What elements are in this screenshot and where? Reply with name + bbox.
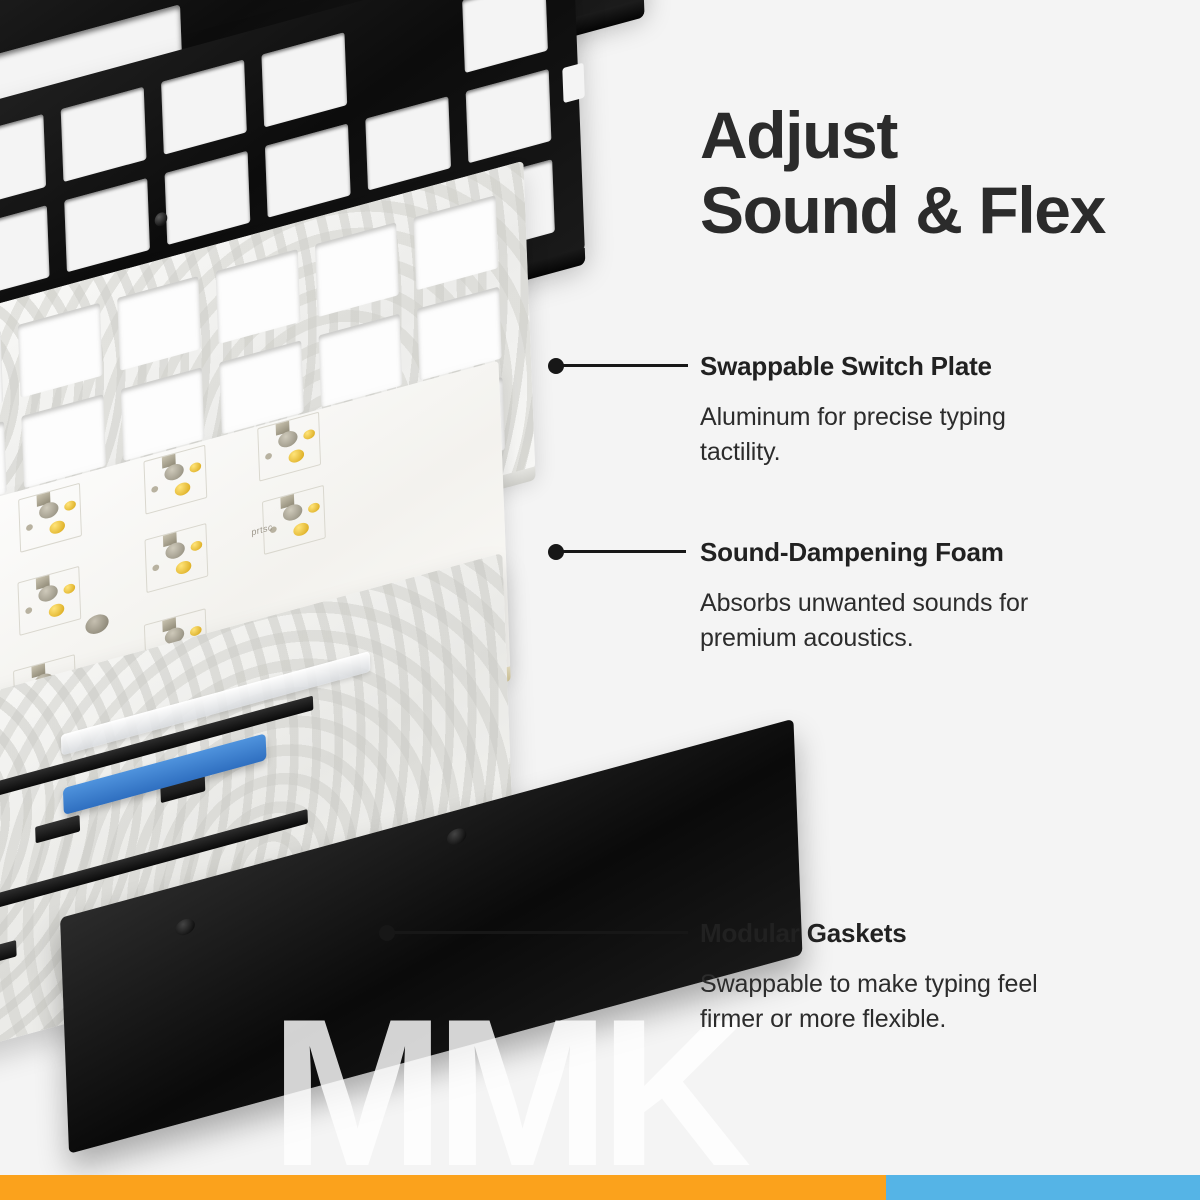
callout-modular-gaskets: Modular Gaskets Swappable to make typing… <box>700 917 1070 1038</box>
leader-line-foam <box>556 550 686 553</box>
footer-bar-blue <box>886 1175 1200 1200</box>
headline-line-2: Sound & Flex <box>700 173 1170 248</box>
pcb-switch-footprint <box>262 485 326 555</box>
leader-dot-foam <box>548 544 564 560</box>
callout-title: Sound-Dampening Foam <box>700 536 1070 570</box>
pcb-switch-footprint <box>17 566 81 636</box>
callout-body: Swappable to make typing feel firmer or … <box>700 967 1070 1038</box>
pcb-switch-footprint <box>143 445 207 515</box>
case-tab <box>0 940 17 968</box>
pcb-switch-footprint <box>18 483 82 553</box>
pcb-switch-footprint <box>145 523 209 593</box>
product-exploded-view: alt shift ctrl prtsc GLORIOUS <box>0 0 720 1200</box>
case-screw-hole <box>447 826 467 847</box>
callout-title: Swappable Switch Plate <box>700 350 1070 384</box>
callout-body: Absorbs unwanted sounds for premium acou… <box>700 586 1070 657</box>
page-title: Adjust Sound & Flex <box>700 98 1170 247</box>
clear-gasket-strip <box>61 651 371 755</box>
case-screw-hole <box>175 917 195 938</box>
footer-bar-orange <box>0 1175 886 1200</box>
pcb-stabilizer-hole <box>85 612 109 637</box>
leader-dot-gaskets <box>379 925 395 941</box>
headline-line-1: Adjust <box>700 98 1170 173</box>
marketing-image: alt shift ctrl prtsc GLORIOUS M <box>0 0 1200 1200</box>
callout-sound-dampening-foam: Sound-Dampening Foam Absorbs unwanted so… <box>700 536 1070 657</box>
case-tab <box>35 815 80 843</box>
leader-line-gaskets <box>387 931 688 934</box>
leader-dot-switch-plate <box>548 358 564 374</box>
callout-body: Aluminum for precise typing tactility. <box>700 400 1070 471</box>
callout-switch-plate: Swappable Switch Plate Aluminum for prec… <box>700 350 1070 471</box>
callout-title: Modular Gaskets <box>700 917 1070 951</box>
text-column: Adjust Sound & Flex Swappable Switch Pla… <box>700 0 1180 1200</box>
leader-line-switch-plate <box>556 364 688 367</box>
plate-notch <box>562 63 585 104</box>
